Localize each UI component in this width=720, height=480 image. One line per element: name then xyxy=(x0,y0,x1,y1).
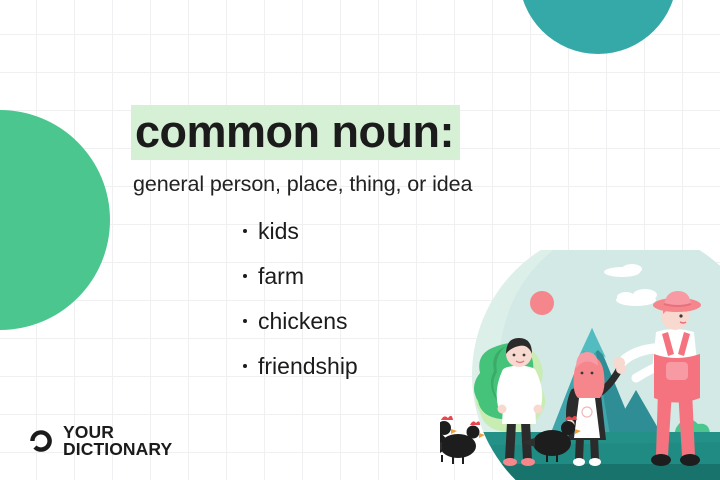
farmer-eye xyxy=(679,314,682,317)
boy-hand xyxy=(498,405,507,414)
boy-shoe xyxy=(503,458,517,466)
q-circle-icon xyxy=(28,428,54,454)
chicken-beak xyxy=(451,429,457,434)
yourdictionary-logo: YOUR DICTIONARY xyxy=(28,424,172,458)
girl-shoe xyxy=(589,458,601,466)
girl-shoe xyxy=(573,458,585,466)
girl-eye xyxy=(581,372,584,375)
bullet-icon xyxy=(243,274,247,278)
green-circle-decoration xyxy=(0,110,110,330)
page-title: common noun: xyxy=(131,105,460,160)
sun-icon xyxy=(530,291,554,315)
subtitle: general person, place, thing, or idea xyxy=(133,172,472,197)
farmer-shoe xyxy=(651,454,671,466)
chicken-comb xyxy=(470,421,480,425)
chicken-tail xyxy=(440,442,442,450)
boy-hand xyxy=(534,405,543,414)
girl-hand xyxy=(616,364,626,374)
boy-eye xyxy=(513,354,516,357)
logo-line-2: DICTIONARY xyxy=(63,441,172,458)
farm-scene-illustration xyxy=(440,250,720,480)
girl-eye xyxy=(591,372,594,375)
chicken-beak xyxy=(479,433,485,438)
list-item-label: chickens xyxy=(258,308,347,334)
overalls-pocket xyxy=(666,362,688,380)
list-item-label: kids xyxy=(258,218,299,244)
logo-text: YOUR DICTIONARY xyxy=(63,424,172,458)
list-item-label: farm xyxy=(258,263,304,289)
chicken-comb xyxy=(441,416,453,420)
bullet-icon xyxy=(243,229,247,233)
bullet-icon xyxy=(243,319,247,323)
farmer-shoe xyxy=(680,454,700,466)
examples-list: kids farm chickens friendship xyxy=(243,220,358,400)
list-item-label: friendship xyxy=(258,353,358,379)
list-item: kids xyxy=(243,220,358,243)
title-wrapper: common noun: xyxy=(131,105,460,160)
ground-foreground xyxy=(440,464,720,480)
list-item: farm xyxy=(243,265,358,288)
infographic-canvas: common noun: general person, place, thin… xyxy=(0,0,720,480)
list-item: friendship xyxy=(243,355,358,378)
boy-eye xyxy=(523,354,526,357)
teal-circle-decoration xyxy=(519,0,677,54)
bullet-icon xyxy=(243,364,247,368)
list-item: chickens xyxy=(243,310,358,333)
boy-shoe xyxy=(521,458,535,466)
